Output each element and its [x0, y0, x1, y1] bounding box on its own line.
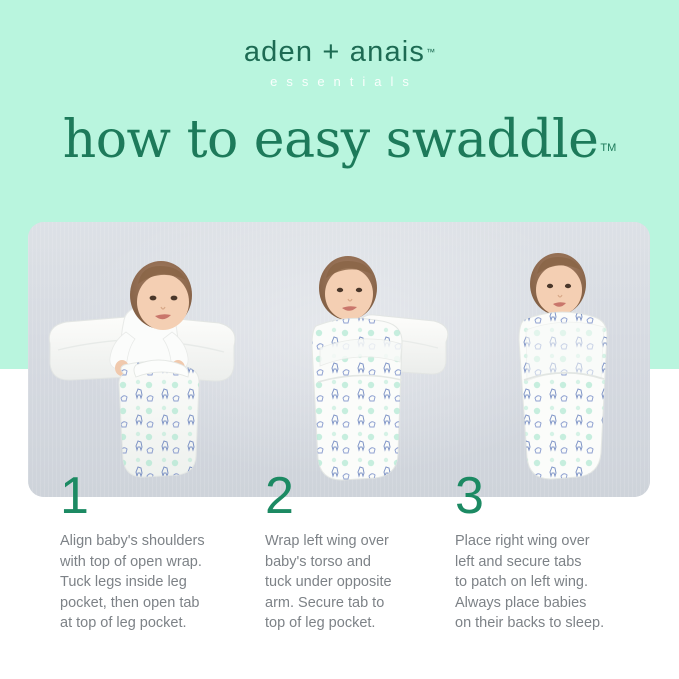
scene-baby-left-wing-wrapped	[250, 222, 470, 497]
baby-left-eye	[337, 288, 343, 292]
baby-fully-swaddled-illustration	[468, 222, 650, 497]
step-1: 1 Align baby's shoulders with top of ope…	[60, 470, 260, 634]
scene-baby-fully-swaddled	[468, 222, 650, 497]
brand-logo: aden + anais™	[0, 36, 679, 69]
headline-trademark-icon: TM	[600, 142, 616, 154]
step-2: 2 Wrap left wing over baby's torso and t…	[265, 470, 465, 634]
step-2-number: 2	[265, 470, 465, 522]
brand-name: aden + anais	[244, 36, 425, 69]
instruction-photo	[28, 222, 650, 497]
step-1-text: Align baby's shoulders with top of open …	[60, 531, 260, 634]
steps-section: 1 Align baby's shoulders with top of ope…	[0, 470, 679, 679]
brand-sub-label: essentials	[0, 74, 679, 89]
baby-open-wrap-illustration	[28, 222, 258, 497]
baby-face	[536, 265, 582, 315]
baby-right-eye	[356, 288, 362, 292]
step-1-number: 1	[60, 470, 260, 522]
baby-left-wing-illustration	[250, 222, 470, 497]
baby-right-eye	[565, 284, 571, 288]
brand-trademark-icon: ™	[426, 47, 435, 57]
baby-left-eye	[150, 296, 157, 301]
scene-baby-open-wrap	[28, 222, 258, 497]
baby-face	[325, 268, 373, 320]
swaddle-instruction-graphic: aden + anais™ essentials how to easy swa…	[0, 0, 679, 679]
baby-right-eye	[171, 296, 178, 301]
step-3: 3 Place right wing over left and secure …	[455, 470, 655, 634]
baby-face	[137, 274, 189, 330]
baby-left-eye	[547, 284, 553, 288]
step-3-number: 3	[455, 470, 655, 522]
page-title: how to easy swaddleTM	[0, 110, 679, 170]
step-3-text: Place right wing over left and secure ta…	[455, 531, 655, 634]
step-2-text: Wrap left wing over baby's torso and tuc…	[265, 531, 465, 634]
page-title-text: how to easy swaddle	[63, 110, 599, 170]
